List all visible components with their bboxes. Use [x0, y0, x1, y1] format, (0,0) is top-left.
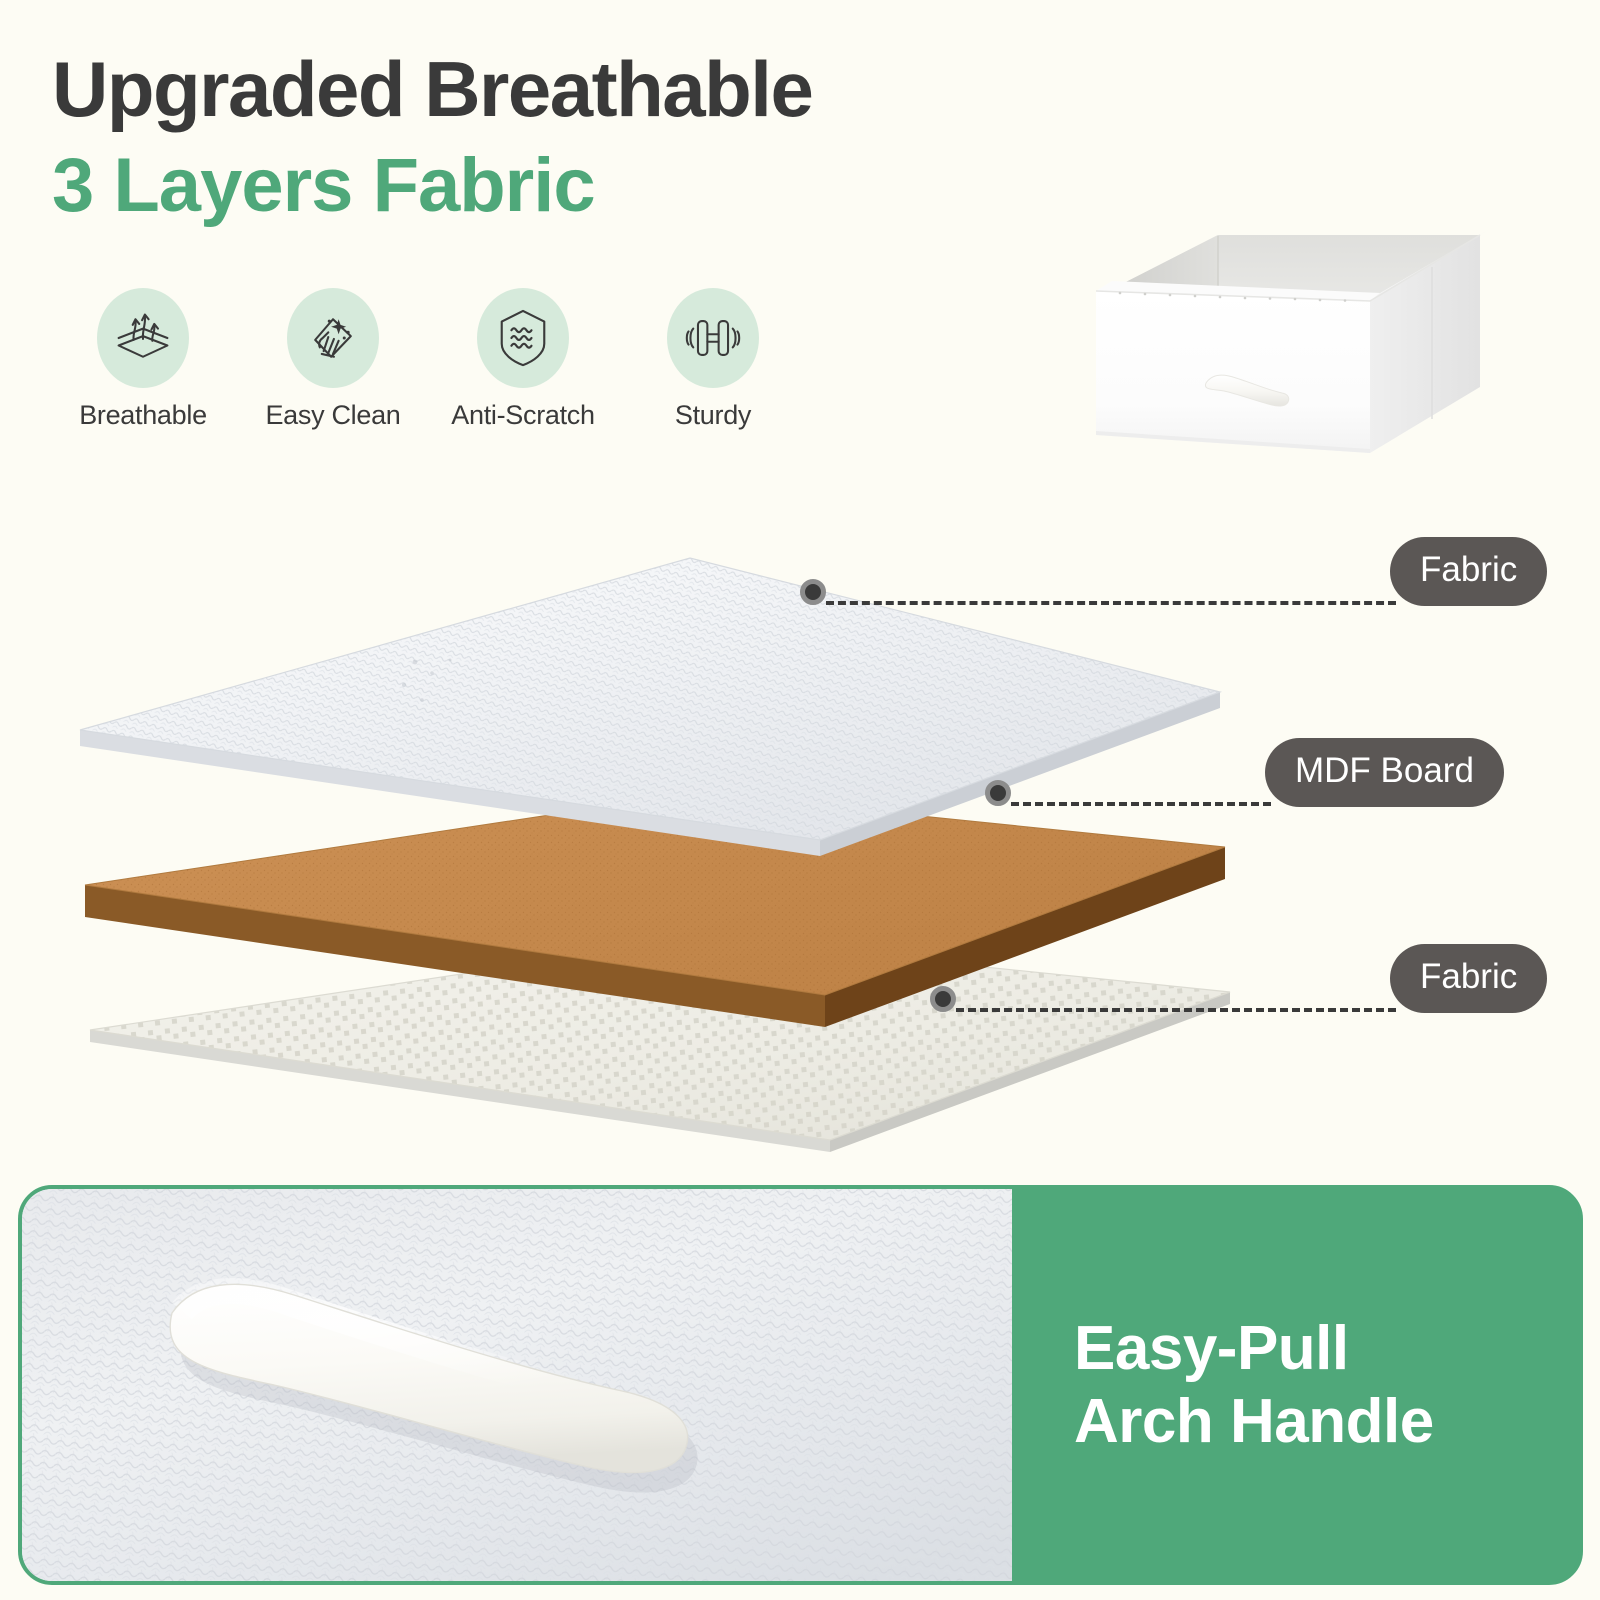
arch-handle-closeup: [22, 1189, 1012, 1581]
feature-item-anti-scratch: Anti-Scratch: [428, 288, 618, 431]
arch-handle-title-line1: Easy-Pull: [1074, 1312, 1579, 1385]
callout-dot-icon: [985, 780, 1011, 806]
hand-wipe-sparkle-icon: [303, 308, 363, 368]
arch-handle-panel: Easy-Pull Arch Handle: [18, 1185, 1583, 1585]
feature-item-easy-clean: Easy Clean: [238, 288, 428, 431]
feature-badge: [97, 288, 189, 388]
page-subtitle: 3 Layers Fabric: [52, 148, 1052, 224]
callout-dot-icon: [800, 579, 826, 605]
arch-handle-caption: Easy-Pull Arch Handle: [1012, 1189, 1579, 1581]
page-title: Upgraded Breathable: [52, 50, 1052, 128]
breathable-layers-icon: [113, 308, 173, 368]
feature-badge: [477, 288, 569, 388]
feature-item-breathable: Breathable: [48, 288, 238, 431]
feature-label: Sturdy: [675, 400, 751, 431]
feature-list: Breathable Easy Clean: [48, 288, 808, 431]
callout-leader-line: [826, 601, 1396, 605]
white-fabric-storage-bin: [1060, 205, 1530, 485]
feature-label: Breathable: [79, 400, 207, 431]
feature-label: Easy Clean: [265, 400, 400, 431]
headline-block: Upgraded Breathable 3 Layers Fabric: [52, 50, 1052, 224]
feature-label: Anti-Scratch: [451, 400, 594, 431]
dumbbell-icon: [682, 310, 744, 366]
callout-dot-icon: [930, 986, 956, 1012]
feature-item-sturdy: Sturdy: [618, 288, 808, 431]
three-layer-exploded-diagram: [60, 540, 1290, 1160]
callout-label-fabric-top: Fabric: [1390, 537, 1547, 606]
feature-badge: [667, 288, 759, 388]
feature-badge: [287, 288, 379, 388]
callout-label-mdf-board: MDF Board: [1265, 738, 1504, 807]
arch-handle-title-line2: Arch Handle: [1074, 1385, 1579, 1458]
callout-leader-line: [1011, 802, 1271, 806]
callout-leader-line: [956, 1008, 1396, 1012]
shield-waves-icon: [494, 307, 552, 369]
callout-label-fabric-bottom: Fabric: [1390, 944, 1547, 1013]
